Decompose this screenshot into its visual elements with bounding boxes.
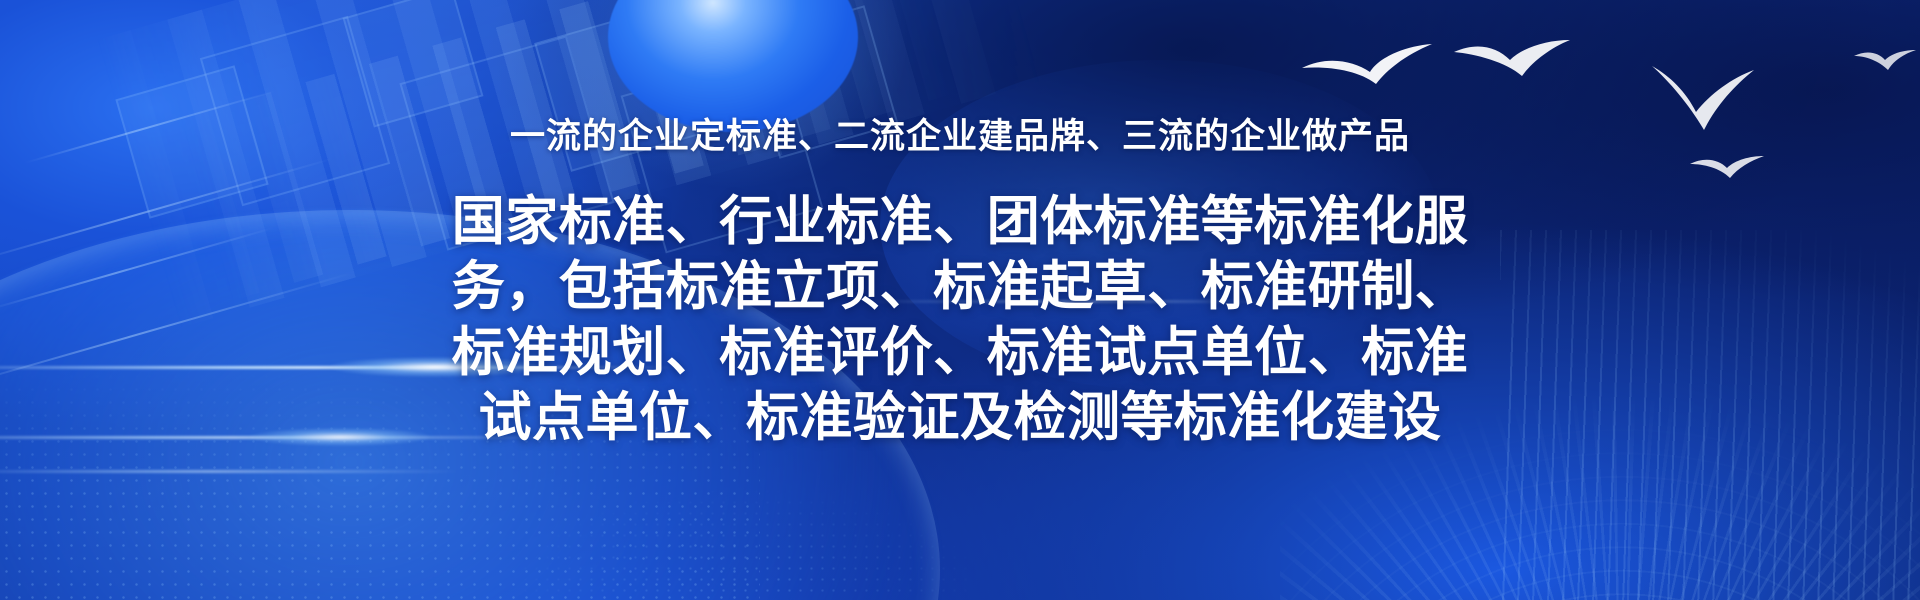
promo-banner: 一流的企业定标准、二流企业建品牌、三流的企业做产品 国家标准、行业标准、团体标准… <box>0 0 1920 600</box>
banner-body-text: 国家标准、行业标准、团体标准等标准化服 务，包括标准立项、标准起草、标准研制、 … <box>435 157 1485 450</box>
glow-line <box>0 470 460 473</box>
banner-headline: 一流的企业定标准、二流企业建品牌、三流的企业做产品 <box>0 0 1920 157</box>
body-line: 标准规划、标准评价、标准试点单位、标准 <box>435 320 1485 385</box>
banner-text-block: 一流的企业定标准、二流企业建品牌、三流的企业做产品 国家标准、行业标准、团体标准… <box>0 0 1920 450</box>
body-line: 国家标准、行业标准、团体标准等标准化服 <box>435 189 1485 254</box>
body-line: 务，包括标准立项、标准起草、标准研制、 <box>435 254 1485 319</box>
body-line: 试点单位、标准验证及检测等标准化建设 <box>435 385 1485 450</box>
